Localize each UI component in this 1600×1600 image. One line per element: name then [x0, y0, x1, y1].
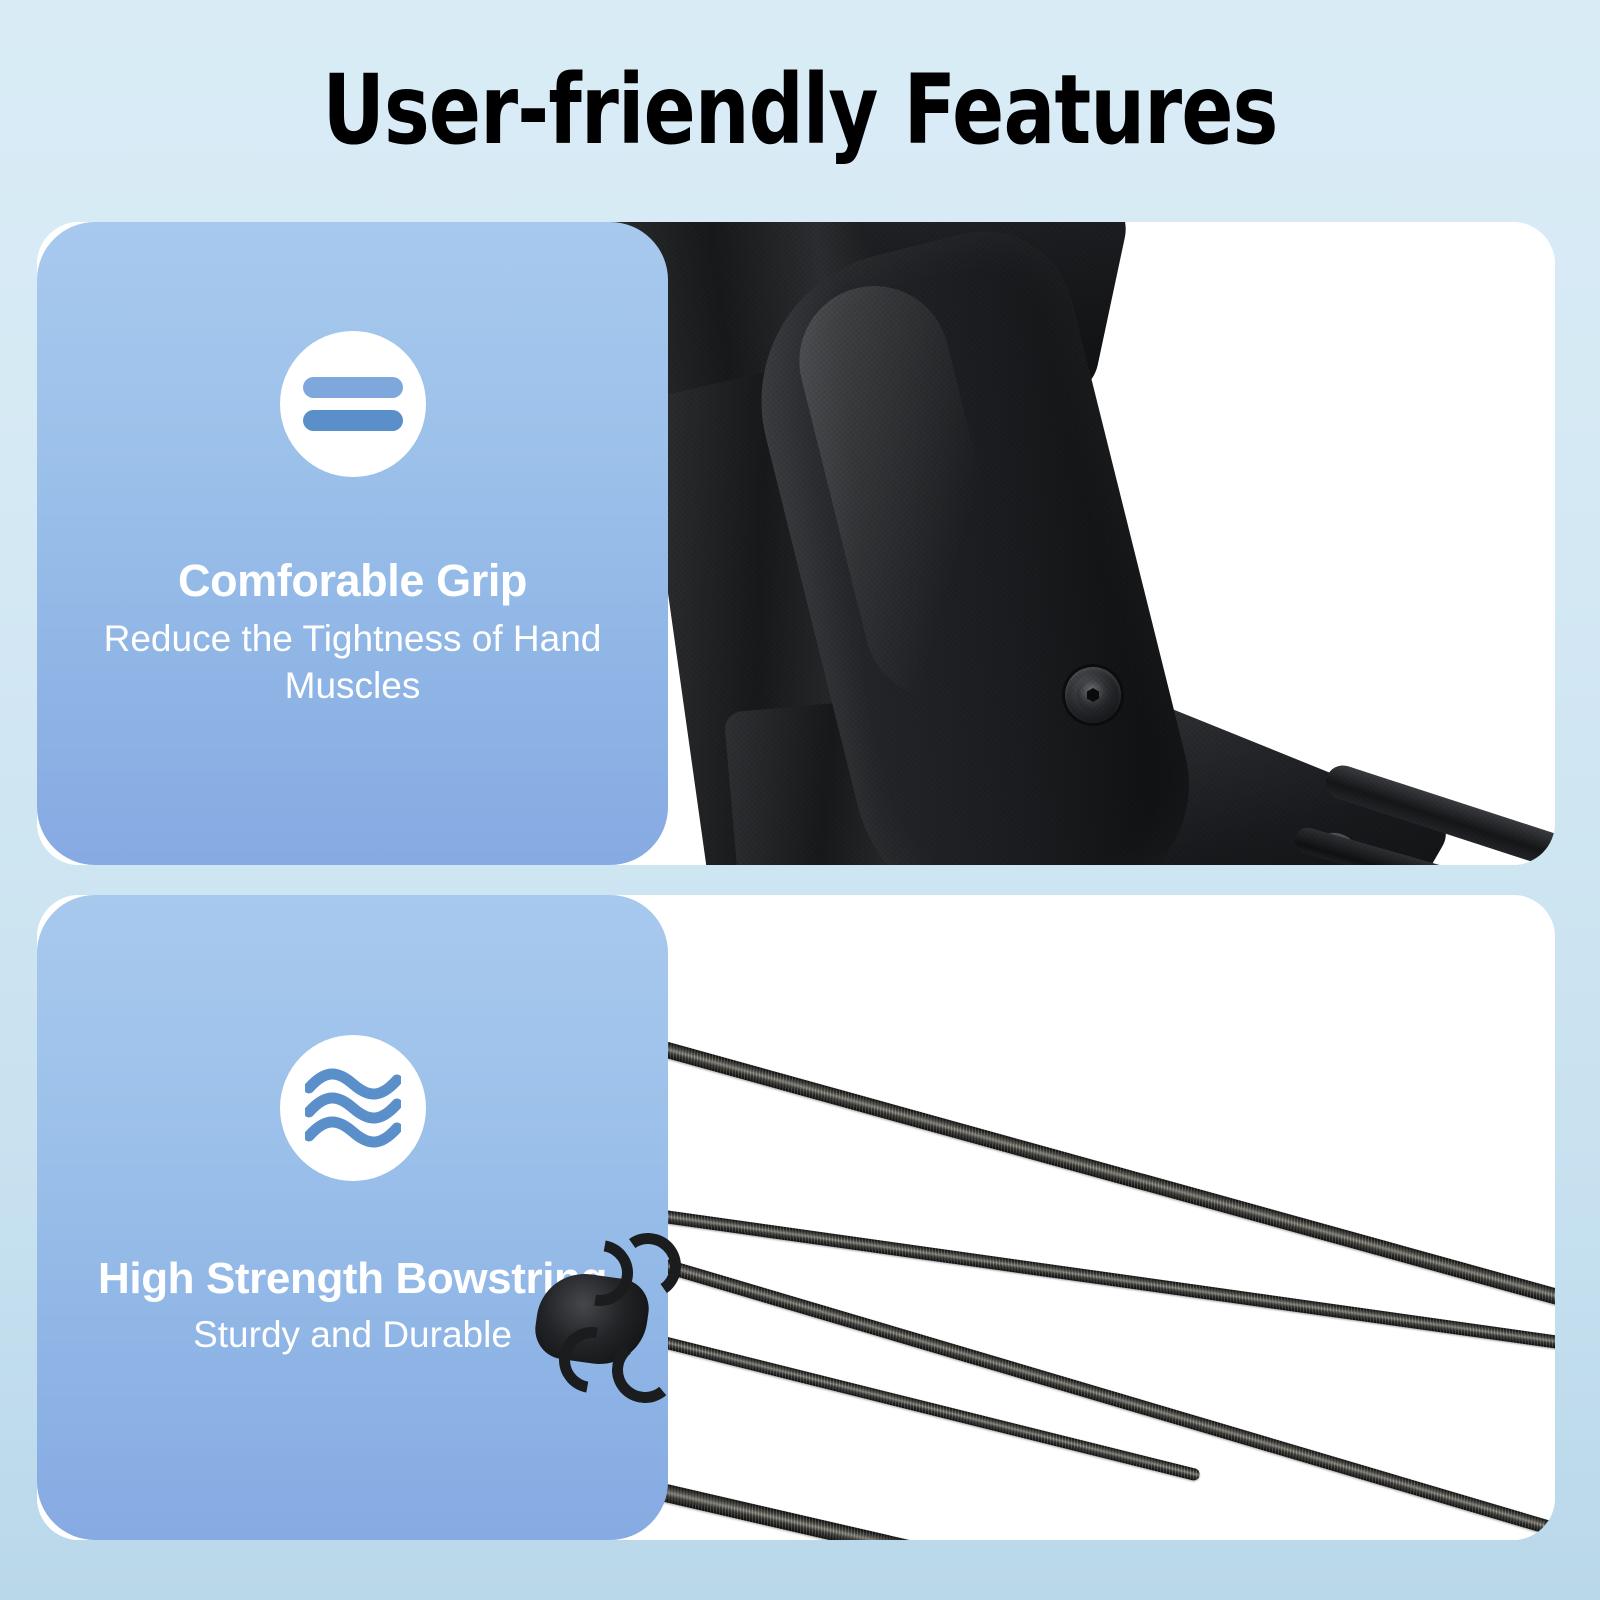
infographic-page: User-friendly Features — [0, 0, 1600, 1600]
feature-title: High Strength Bowstring — [98, 1253, 607, 1305]
feature-card-high-strength-bowstring: High Strength Bowstring Sturdy and Durab… — [37, 895, 668, 1540]
feature-subtitle: Reduce the Tightness of Hand Muscles — [93, 615, 613, 709]
feature-section-comfortable-grip: Comforable Grip Reduce the Tightness of … — [37, 222, 1555, 865]
feature-card-comfortable-grip: Comforable Grip Reduce the Tightness of … — [37, 222, 668, 865]
feature-subtitle: Sturdy and Durable — [193, 1311, 512, 1358]
page-title: User-friendly Features — [160, 58, 1440, 162]
equals-bars-icon — [280, 331, 426, 477]
feature-section-high-strength-bowstring: High Strength Bowstring Sturdy and Durab… — [37, 895, 1555, 1540]
waves-icon — [280, 1035, 426, 1181]
feature-title: Comforable Grip — [178, 555, 527, 607]
